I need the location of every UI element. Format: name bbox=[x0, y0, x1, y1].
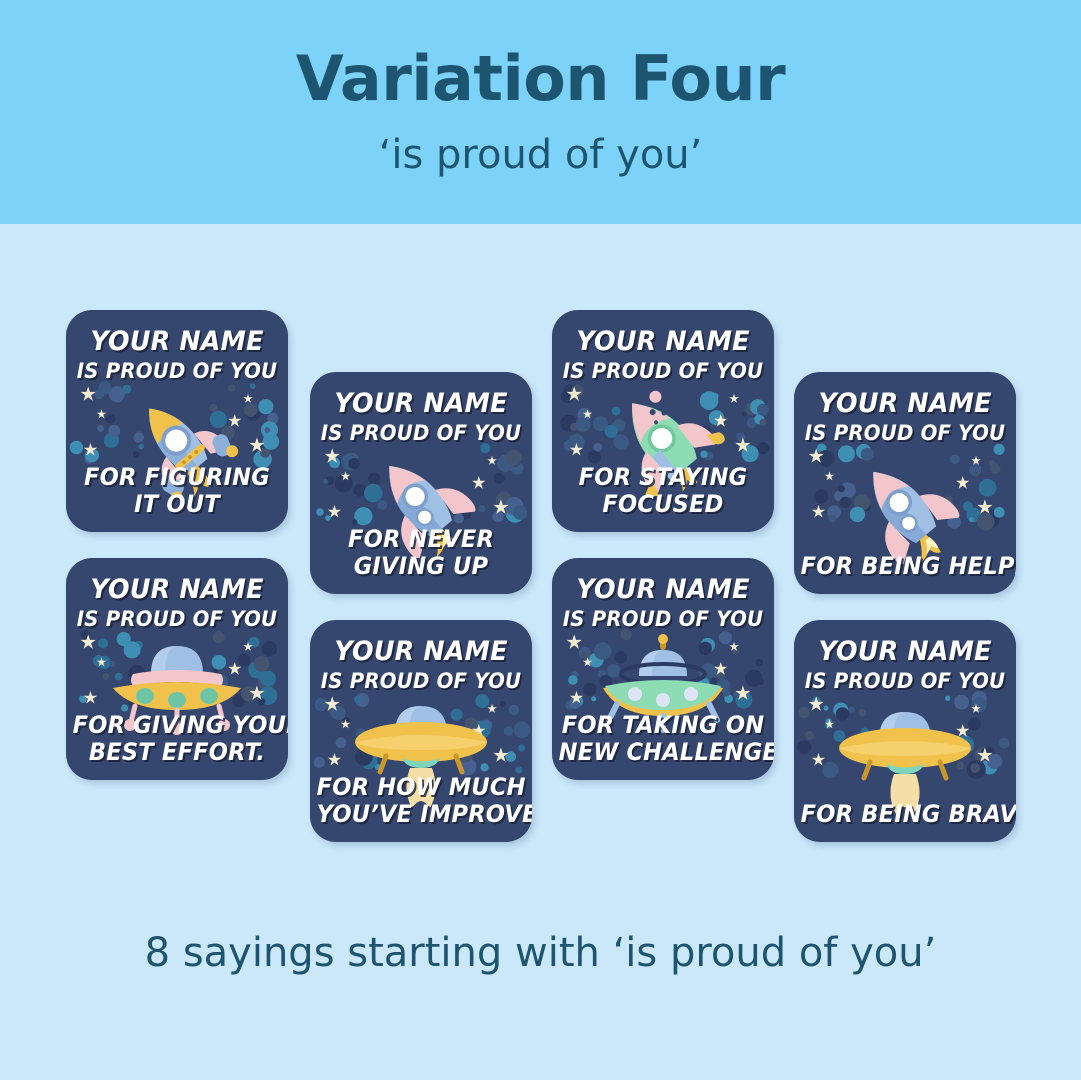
card-name-line: YOUR NAME bbox=[801, 388, 1010, 419]
page-title: Variation Four bbox=[296, 46, 785, 111]
card-name-line: YOUR NAME bbox=[317, 388, 526, 419]
sticker-card[interactable]: YOUR NAME IS PROUD OF YOU FOR HOW MUCHYO… bbox=[310, 620, 532, 842]
card-message: FOR BEING BRAVE bbox=[794, 801, 1016, 828]
card-message: FOR STAYINGFOCUSED bbox=[552, 464, 774, 518]
card-message: FOR FIGURINGIT OUT bbox=[66, 464, 288, 518]
card-bottom-line: FOR STAYING bbox=[559, 464, 768, 491]
card-heading: YOUR NAME IS PROUD OF YOU bbox=[66, 558, 288, 631]
card-bottom-line: FOR BEING BRAVE bbox=[801, 801, 1010, 828]
card-bottom-line: IT OUT bbox=[73, 491, 282, 518]
sticker-card-grid: YOUR NAME IS PROUD OF YOU bbox=[0, 224, 1081, 904]
card-sub-line: IS PROUD OF YOU bbox=[73, 607, 282, 631]
card-sub-line: IS PROUD OF YOU bbox=[317, 421, 526, 445]
card-name-line: YOUR NAME bbox=[559, 574, 768, 605]
sticker-card[interactable]: YOUR NAME IS PROUD OF YOU FOR NEVERGIVIN… bbox=[310, 372, 532, 594]
card-sub-line: IS PROUD OF YOU bbox=[801, 669, 1010, 693]
card-name-line: YOUR NAME bbox=[559, 326, 768, 357]
sticker-card[interactable]: YOUR NAME IS PROUD OF YOU FOR BEING HELP… bbox=[794, 372, 1016, 594]
card-message: FOR TAKING ONNEW CHALLENGES bbox=[552, 712, 774, 766]
footer-caption: 8 sayings starting with ‘is proud of you… bbox=[0, 930, 1081, 976]
sticker-card[interactable]: YOUR NAME IS PROUD OF YOU FOR BEING BRAV… bbox=[794, 620, 1016, 842]
card-sub-line: IS PROUD OF YOU bbox=[559, 359, 768, 383]
card-heading: YOUR NAME IS PROUD OF YOU bbox=[794, 620, 1016, 693]
card-message: FOR NEVERGIVING UP bbox=[310, 526, 532, 580]
card-bottom-line: FOR FIGURING bbox=[73, 464, 282, 491]
card-message: FOR HOW MUCHYOU’VE IMPROVED. bbox=[310, 774, 532, 828]
card-inner: YOUR NAME IS PROUD OF YOU FOR GIVING YOU… bbox=[66, 558, 288, 780]
sticker-card[interactable]: YOUR NAME IS PROUD OF YOU FOR TAKING ONN… bbox=[552, 558, 774, 780]
card-bottom-line: GIVING UP bbox=[317, 553, 526, 580]
card-message: FOR BEING HELPFUL bbox=[794, 553, 1016, 580]
sticker-card[interactable]: YOUR NAME IS PROUD OF YOU FOR GIVING YOU… bbox=[66, 558, 288, 780]
card-name-line: YOUR NAME bbox=[801, 636, 1010, 667]
sticker-card[interactable]: YOUR NAME IS PROUD OF YOU bbox=[66, 310, 288, 532]
card-sub-line: IS PROUD OF YOU bbox=[73, 359, 282, 383]
card-inner: YOUR NAME IS PROUD OF YOU bbox=[66, 310, 288, 532]
page-subtitle: ‘is proud of you’ bbox=[379, 132, 703, 178]
card-inner: YOUR NAME IS PROUD OF YOU FOR BEING BRAV… bbox=[794, 620, 1016, 842]
sticker-card[interactable]: YOUR NAME IS PROUD OF YOU FOR STAYINGFOC… bbox=[552, 310, 774, 532]
card-sub-line: IS PROUD OF YOU bbox=[559, 607, 768, 631]
card-inner: YOUR NAME IS PROUD OF YOU FOR NEVERGIVIN… bbox=[310, 372, 532, 594]
card-bottom-line: FOR BEING HELPFUL bbox=[801, 553, 1010, 580]
card-bottom-line: YOU’VE IMPROVED. bbox=[317, 801, 526, 828]
card-bottom-line: FOR HOW MUCH bbox=[317, 774, 526, 801]
card-sub-line: IS PROUD OF YOU bbox=[801, 421, 1010, 445]
card-inner: YOUR NAME IS PROUD OF YOU FOR BEING HELP… bbox=[794, 372, 1016, 594]
card-name-line: YOUR NAME bbox=[317, 636, 526, 667]
card-inner: YOUR NAME IS PROUD OF YOU FOR STAYINGFOC… bbox=[552, 310, 774, 532]
card-name-line: YOUR NAME bbox=[73, 574, 282, 605]
poster-page: Variation Four ‘is proud of you’ YOUR NA… bbox=[0, 0, 1081, 1080]
header-band: Variation Four ‘is proud of you’ bbox=[0, 0, 1081, 224]
card-heading: YOUR NAME IS PROUD OF YOU bbox=[310, 372, 532, 445]
card-inner: YOUR NAME IS PROUD OF YOU FOR TAKING ONN… bbox=[552, 558, 774, 780]
card-heading: YOUR NAME IS PROUD OF YOU bbox=[552, 310, 774, 383]
card-bottom-line: FOR NEVER bbox=[317, 526, 526, 553]
card-bottom-line: FOR GIVING YOUR bbox=[73, 712, 282, 739]
card-heading: YOUR NAME IS PROUD OF YOU bbox=[552, 558, 774, 631]
card-message: FOR GIVING YOURBEST EFFORT. bbox=[66, 712, 288, 766]
card-bottom-line: FOR TAKING ON bbox=[559, 712, 768, 739]
rocket-blue-pink-fins-icon bbox=[794, 452, 1016, 564]
card-heading: YOUR NAME IS PROUD OF YOU bbox=[794, 372, 1016, 445]
card-sub-line: IS PROUD OF YOU bbox=[317, 669, 526, 693]
card-bottom-line: NEW CHALLENGES bbox=[559, 739, 768, 766]
card-heading: YOUR NAME IS PROUD OF YOU bbox=[310, 620, 532, 693]
card-inner: YOUR NAME IS PROUD OF YOU FOR HOW MUCHYO… bbox=[310, 620, 532, 842]
card-bottom-line: FOCUSED bbox=[559, 491, 768, 518]
card-name-line: YOUR NAME bbox=[73, 326, 282, 357]
card-bottom-line: BEST EFFORT. bbox=[73, 739, 282, 766]
card-heading: YOUR NAME IS PROUD OF YOU bbox=[66, 310, 288, 383]
